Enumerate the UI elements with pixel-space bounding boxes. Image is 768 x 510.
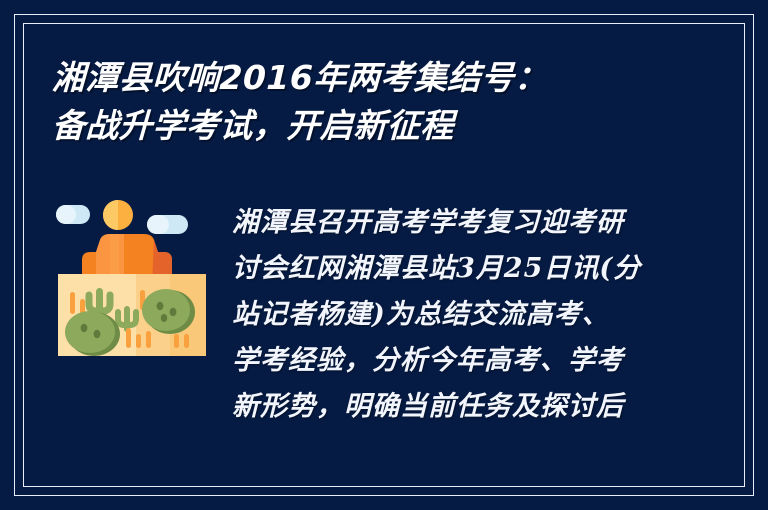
- cloud-right-icon: [147, 215, 188, 234]
- body-line-4: 学考经验，分析今年高考、学考: [232, 338, 672, 384]
- headline-line-1: 湘潭县吹响2016年两考集结号：: [51, 54, 703, 102]
- body-line-5: 新形势，明确当前任务及探讨后: [232, 384, 672, 430]
- body-line-3: 站记者杨建)为总结交流高考、: [232, 292, 672, 338]
- headline-block: 湘潭县吹响2016年两考集结号： 备战升学考试，开启新征程: [52, 54, 702, 150]
- body-line-2: 讨会红网湘潭县站3月25日讯(分: [232, 246, 672, 292]
- poster-canvas: 湘潭县吹响2016年两考集结号： 备战升学考试，开启新征程: [0, 0, 768, 510]
- headline-line-2: 备战升学考试，开启新征程: [51, 102, 703, 150]
- body-copy-block: 湘潭县召开高考学考复习迎考研 讨会红网湘潭县站3月25日讯(分 站记者杨建)为总…: [232, 200, 672, 430]
- desert-landscape-illustration: [52, 196, 206, 358]
- sun-icon: [103, 200, 133, 230]
- cloud-left-icon: [56, 205, 90, 224]
- body-line-1: 湘潭县召开高考学考复习迎考研: [232, 200, 672, 246]
